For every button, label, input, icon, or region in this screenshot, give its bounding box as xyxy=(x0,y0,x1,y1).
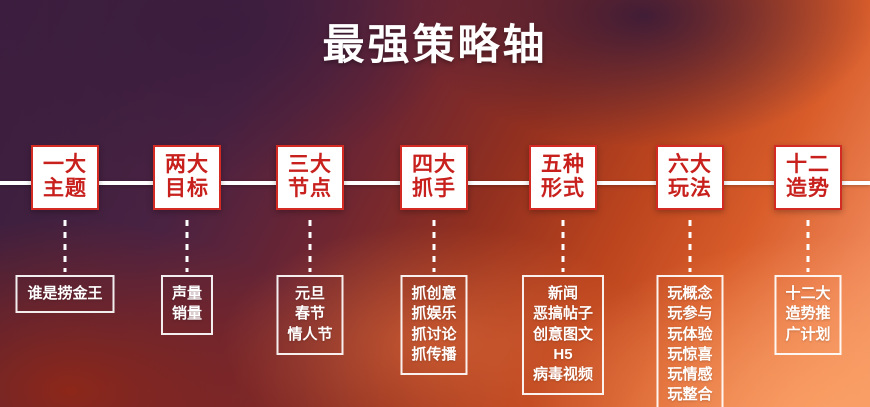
detail-line: 销量 xyxy=(172,304,202,324)
detail-line: 十二大 xyxy=(785,284,830,304)
detail-box-playstyles[interactable]: 玩概念玩参与玩体验玩惊喜玩情感玩整合 xyxy=(656,275,723,407)
milestone-title-line: 玩法 xyxy=(668,177,712,201)
milestone-title-line: 主题 xyxy=(43,177,87,201)
detail-line: 抓创意 xyxy=(411,284,456,304)
milestone-title-line: 三大 xyxy=(288,153,332,177)
milestone-title-line: 抓手 xyxy=(412,177,456,201)
dashed-connector-goals xyxy=(186,220,189,272)
milestone-box-momentum[interactable]: 十二造势 xyxy=(774,145,842,210)
dashed-connector-nodes xyxy=(309,220,312,272)
detail-line: 玩参与 xyxy=(667,304,712,324)
detail-line: 玩惊喜 xyxy=(667,345,712,365)
detail-line: 恶搞帖子 xyxy=(533,304,593,324)
detail-box-momentum[interactable]: 十二大造势推广计划 xyxy=(774,275,841,355)
detail-line: 元旦 xyxy=(287,284,332,304)
milestone-box-handles[interactable]: 四大抓手 xyxy=(400,145,468,210)
milestone-title-line: 十二 xyxy=(786,153,830,177)
detail-line: 新闻 xyxy=(533,284,593,304)
dashed-connector-handles xyxy=(433,220,436,272)
milestone-box-forms[interactable]: 五种形式 xyxy=(529,145,597,210)
milestone-title-line: 四大 xyxy=(412,153,456,177)
detail-line: 情人节 xyxy=(287,325,332,345)
dashed-connector-momentum xyxy=(807,220,810,272)
milestone-box-playstyles[interactable]: 六大玩法 xyxy=(656,145,724,210)
detail-line: 玩情感 xyxy=(667,365,712,385)
detail-line: 玩整合 xyxy=(667,385,712,405)
milestone-title-line: 节点 xyxy=(288,177,332,201)
detail-line: 抓讨论 xyxy=(411,325,456,345)
detail-line: 谁是捞金王 xyxy=(27,284,102,304)
page-title: 最强策略轴 xyxy=(0,22,870,68)
milestone-title-line: 造势 xyxy=(786,177,830,201)
milestone-title-line: 一大 xyxy=(43,153,87,177)
infographic-canvas: 最强策略轴 一大主题谁是捞金王两大目标声量销量三大节点元旦春节情人节四大抓手抓创… xyxy=(0,0,870,407)
milestone-title-line: 五种 xyxy=(541,153,585,177)
detail-line: 抓传播 xyxy=(411,345,456,365)
milestone-title-line: 两大 xyxy=(165,153,209,177)
detail-line: 春节 xyxy=(287,304,332,324)
detail-box-nodes[interactable]: 元旦春节情人节 xyxy=(276,275,343,355)
detail-box-goals[interactable]: 声量销量 xyxy=(161,275,213,335)
milestone-title-line: 六大 xyxy=(668,153,712,177)
detail-line: 造势推 xyxy=(785,304,830,324)
detail-line: 玩体验 xyxy=(667,325,712,345)
detail-line: 广计划 xyxy=(785,325,830,345)
dashed-connector-playstyles xyxy=(689,220,692,272)
milestone-title-line: 目标 xyxy=(165,177,209,201)
detail-line: 声量 xyxy=(172,284,202,304)
detail-box-forms[interactable]: 新闻恶搞帖子创意图文H5病毒视频 xyxy=(522,275,604,395)
dashed-connector-theme xyxy=(64,220,67,272)
milestone-box-nodes[interactable]: 三大节点 xyxy=(276,145,344,210)
detail-line: 玩概念 xyxy=(667,284,712,304)
milestone-box-goals[interactable]: 两大目标 xyxy=(153,145,221,210)
milestone-title-line: 形式 xyxy=(541,177,585,201)
detail-line: 病毒视频 xyxy=(533,365,593,385)
detail-line: 抓娱乐 xyxy=(411,304,456,324)
detail-line: 创意图文 xyxy=(533,325,593,345)
milestone-box-theme[interactable]: 一大主题 xyxy=(31,145,99,210)
detail-box-handles[interactable]: 抓创意抓娱乐抓讨论抓传播 xyxy=(400,275,467,375)
detail-box-theme[interactable]: 谁是捞金王 xyxy=(15,275,114,313)
detail-line: H5 xyxy=(533,345,593,365)
dashed-connector-forms xyxy=(562,220,565,272)
